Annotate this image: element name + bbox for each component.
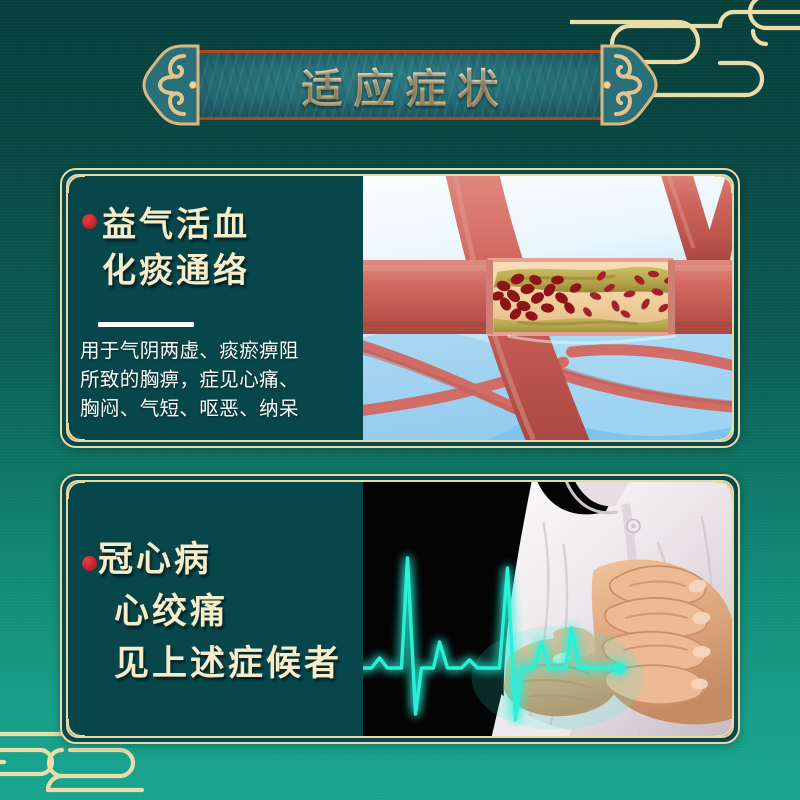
headline-line: 化痰通络 — [102, 248, 351, 294]
bullet-dot-icon — [82, 214, 97, 229]
symptom-card-1-text: 益气活血 化痰通络 用于气阴两虚、痰瘀痹阻 所致的胸痹，症见心痛、 胸闷、气短、… — [68, 176, 363, 440]
symptom-card-1: 益气活血 化痰通络 用于气阴两虚、痰瘀痹阻 所致的胸痹，症见心痛、 胸闷、气短、… — [60, 168, 740, 448]
page-title: 适应症状 — [140, 42, 660, 128]
symptom-card-2-headlines: 冠心病 心绞痛 见上述症候者 — [98, 534, 342, 690]
atherosclerosis-artery-illustration — [363, 176, 732, 440]
symptom-card-2: 冠心病 心绞痛 见上述症候者 — [60, 474, 740, 744]
headline-line: 冠心病 — [98, 534, 342, 586]
body-line: 用于气阴两虚、痰瘀痹阻 — [80, 336, 358, 365]
headline-line: 见上述症候者 — [98, 638, 342, 690]
symptom-card-2-text: 冠心病 心绞痛 见上述症候者 — [68, 482, 363, 736]
headline-line: 益气活血 — [102, 202, 351, 248]
chest-pain-ecg-photo — [363, 482, 732, 736]
bullet-dot-icon — [82, 556, 97, 571]
title-banner: 适应症状 — [140, 42, 660, 128]
poster-root: 适应症状 益气活血 化痰通络 用于气阴两虚、痰瘀痹阻 所致的胸痹，症见心痛、 胸… — [0, 0, 800, 800]
headline-line: 心绞痛 — [98, 586, 342, 638]
headline-underline — [98, 322, 194, 327]
symptom-card-1-inner: 益气活血 化痰通络 用于气阴两虚、痰瘀痹阻 所致的胸痹，症见心痛、 胸闷、气短、… — [66, 174, 734, 442]
symptom-card-1-body: 用于气阴两虚、痰瘀痹阻 所致的胸痹，症见心痛、 胸闷、气短、呕恶、纳呆 — [80, 336, 358, 423]
banner-left-cap-ornament-icon — [142, 42, 204, 128]
symptom-card-2-inner: 冠心病 心绞痛 见上述症候者 — [66, 480, 734, 738]
body-line: 所致的胸痹，症见心痛、 — [80, 365, 358, 394]
body-line: 胸闷、气短、呕恶、纳呆 — [80, 394, 358, 423]
symptom-card-1-headlines: 益气活血 化痰通络 — [102, 202, 351, 294]
banner-right-cap-ornament-icon — [596, 42, 658, 128]
